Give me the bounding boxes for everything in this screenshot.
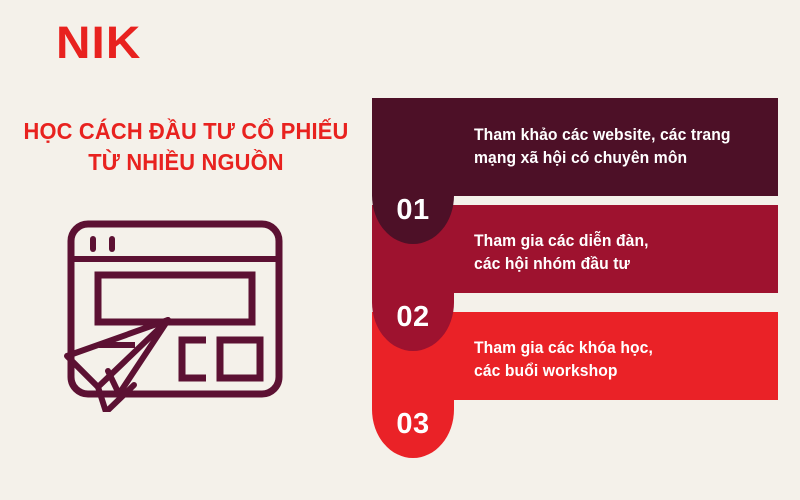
step-number-02: 02	[372, 303, 454, 332]
steps-stack: 03 Tham gia các khóa học, các buổi works…	[372, 98, 800, 458]
page-title-line-2: TỪ NHIỀU NGUỒN	[13, 147, 359, 178]
browser-window-icon	[71, 224, 279, 394]
content-block-large	[98, 275, 252, 322]
page-title: HỌC CÁCH ĐẦU TƯ CỔ PHIẾU TỪ NHIỀU NGUỒN	[13, 116, 359, 179]
step-text-01: Tham khảo các website, các trang mạng xã…	[474, 124, 755, 171]
browser-dot-right	[109, 236, 115, 252]
step-text-01-line-1: Tham khảo các website, các trang	[474, 124, 755, 147]
step-text-01-line-2: mạng xã hội có chuyên môn	[474, 147, 755, 170]
step-text-03: Tham gia các khóa học, các buổi workshop	[474, 337, 755, 384]
browser-dot-left	[90, 236, 96, 252]
page-title-line-1: HỌC CÁCH ĐẦU TƯ CỔ PHIẾU	[13, 116, 359, 147]
content-square	[220, 340, 260, 378]
step-number-03: 03	[372, 410, 454, 439]
step-text-03-line-2: các buổi workshop	[474, 360, 755, 383]
left-column: NIK HỌC CÁCH ĐẦU TƯ CỔ PHIẾU TỪ NHIỀU NG…	[0, 0, 372, 500]
content-bracket	[182, 340, 206, 378]
step-text-02: Tham gia các diễn đàn, các hội nhóm đầu …	[474, 230, 755, 277]
illustration-browser-paper-plane	[62, 212, 308, 412]
step-text-02-line-2: các hội nhóm đầu tư	[474, 253, 755, 276]
step-text-02-line-1: Tham gia các diễn đàn,	[474, 230, 755, 253]
step-text-03-line-1: Tham gia các khóa học,	[474, 337, 755, 360]
paper-plane-icon	[67, 320, 168, 412]
brand-logo: NIK	[56, 20, 141, 65]
step-number-01: 01	[372, 196, 454, 225]
